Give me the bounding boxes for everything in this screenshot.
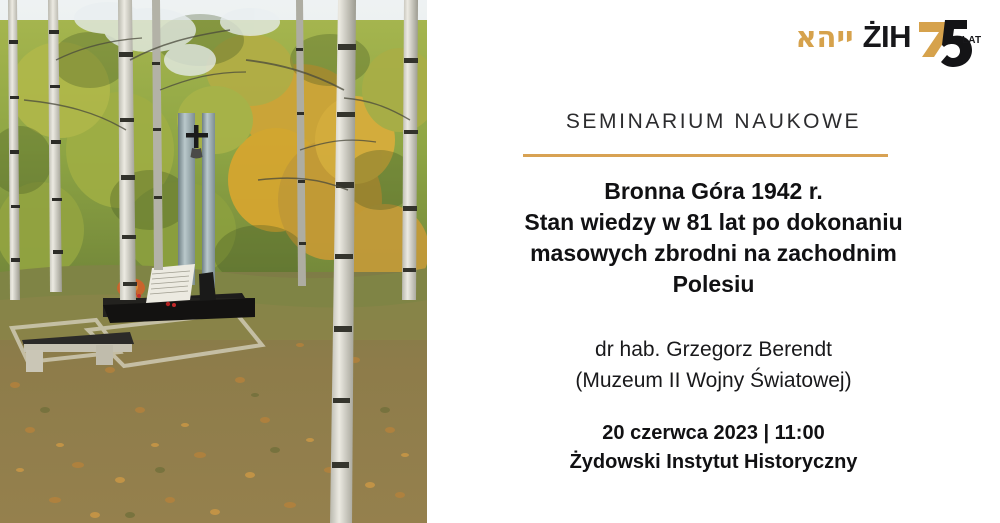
seminar-title: Bronna Góra 1942 r. Stan wiedzy w 81 lat… (447, 176, 980, 300)
speaker-name: dr hab. Grzegorz Berendt (447, 334, 980, 365)
logo-hebrew-text: ייהא (795, 23, 853, 52)
gold-divider-rule (523, 154, 888, 157)
content-panel: ייהא ŻIH LAT SEMINARIUM NAUKOWE Bronna G… (427, 0, 1000, 523)
title-line-1: Bronna Góra 1942 r. (447, 176, 980, 207)
speaker-block: dr hab. Grzegorz Berendt (Muzeum II Wojn… (447, 334, 980, 396)
title-line-4: Polesiu (447, 269, 980, 300)
anniversary-unit-label: LAT (962, 35, 981, 46)
title-line-2: Stan wiedzy w 81 lat po dokonaniu (447, 207, 980, 238)
memorial-photograph (0, 0, 427, 523)
title-line-3: masowych zbrodni na zachodnim (447, 238, 980, 269)
logo-acronym: ŻIH (863, 21, 911, 52)
speaker-affiliation: (Muzeum II Wojny Światowej) (447, 365, 980, 396)
event-datetime: 20 czerwca 2023 | 11:00 (447, 419, 980, 448)
event-details-block: 20 czerwca 2023 | 11:00 Żydowski Instytu… (447, 419, 980, 477)
zih-logo: ייהא ŻIH LAT (795, 17, 978, 69)
event-type-label: SEMINARIUM NAUKOWE (427, 110, 1000, 134)
anniversary-75-mark: LAT (918, 17, 978, 69)
seminar-poster: ייהא ŻIH LAT SEMINARIUM NAUKOWE Bronna G… (0, 0, 1000, 523)
event-venue: Żydowski Instytut Historyczny (447, 448, 980, 477)
